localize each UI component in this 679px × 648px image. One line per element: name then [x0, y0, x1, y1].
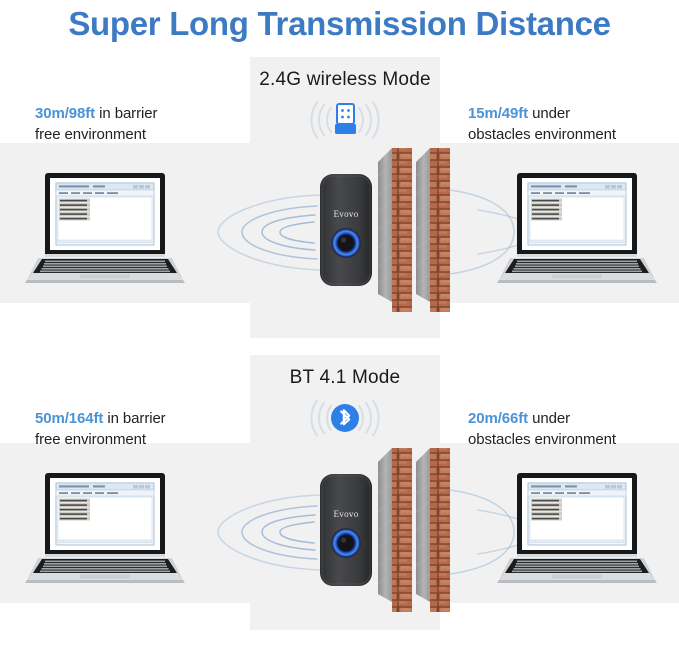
caption-left-bt: 50m/164ft in barrier free environment	[35, 408, 250, 450]
svg-text:Evovo: Evovo	[334, 509, 359, 519]
barcode-scanner-24g: Evovo	[319, 173, 371, 285]
brick-wall-pair-24g	[378, 146, 450, 321]
svg-text:Evovo: Evovo	[334, 209, 359, 219]
laptop-right-24g	[492, 170, 662, 288]
distance-desc-right-bt-line2: obstacles environment	[468, 431, 616, 448]
distance-desc-left-bt-line2: free environment	[35, 431, 146, 448]
page-title: Super Long Transmission Distance	[0, 0, 679, 46]
distance-value-left-24g: 30m/98ft	[35, 105, 95, 122]
mode-heading-bt: BT 4.1 Mode	[245, 366, 445, 390]
distance-value-right-24g: 15m/49ft	[468, 105, 528, 122]
distance-desc-right-24g-line2: obstacles environment	[468, 126, 616, 143]
usb-dongle-icon	[285, 100, 405, 138]
laptop-left-bt	[20, 470, 190, 588]
bluetooth-icon	[285, 398, 405, 436]
mode-heading-24g: 2.4G wireless Mode	[245, 68, 445, 92]
distance-desc-left-24g-line2: free environment	[35, 126, 146, 143]
barcode-scanner-bt: Evovo	[319, 473, 371, 585]
caption-left-24g: 30m/98ft in barrier free environment	[35, 103, 240, 145]
distance-desc-left-24g-line1: in barrier	[99, 105, 157, 122]
distance-value-left-bt: 50m/164ft	[35, 410, 103, 427]
caption-right-bt: 20m/66ft under obstacles environment	[468, 408, 668, 450]
laptop-right-bt	[492, 470, 662, 588]
infographic-root: Super Long Transmission Distance 2.4G wi…	[0, 0, 679, 648]
laptop-left-24g	[20, 170, 190, 288]
distance-desc-right-bt-line1: under	[532, 410, 570, 427]
distance-desc-right-24g-line1: under	[532, 105, 570, 122]
brick-wall-pair-bt	[378, 446, 450, 621]
caption-right-24g: 15m/49ft under obstacles environment	[468, 103, 668, 145]
distance-desc-left-bt-line1: in barrier	[107, 410, 165, 427]
distance-value-right-bt: 20m/66ft	[468, 410, 528, 427]
